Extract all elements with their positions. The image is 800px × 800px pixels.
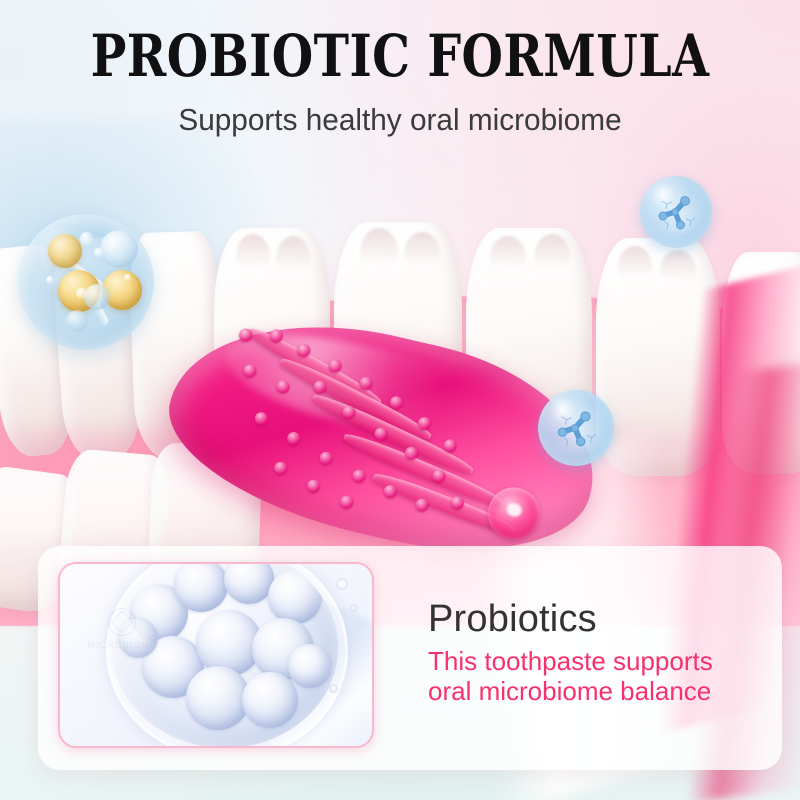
feature-card-text: Probiotics This toothpaste supports oral…	[428, 596, 768, 706]
feature-title: Probiotics	[428, 596, 768, 642]
feature-description-line-2: oral microbiome balance	[428, 676, 768, 706]
probiotic-cell-cluster-image: MICROBIOME	[58, 562, 374, 748]
feature-description-line-1: This toothpaste supports	[428, 646, 768, 676]
watermark-ring-icon	[108, 608, 136, 636]
probiotic-bacteria-icon	[640, 176, 712, 248]
molecule-bubble-icon	[18, 214, 154, 350]
page-title: PROBIOTIC FORMULA	[72, 26, 728, 86]
feature-description: This toothpaste supports oral microbiome…	[428, 646, 768, 706]
promo-banner: PROBIOTIC FORMULA Supports healthy oral …	[0, 0, 800, 800]
page-subtitle: Supports healthy oral microbiome	[16, 100, 784, 140]
probiotic-bacteria-icon	[538, 390, 614, 466]
watermark-label: MICROBIOME	[80, 640, 164, 651]
panel-watermark: MICROBIOME	[80, 608, 164, 670]
